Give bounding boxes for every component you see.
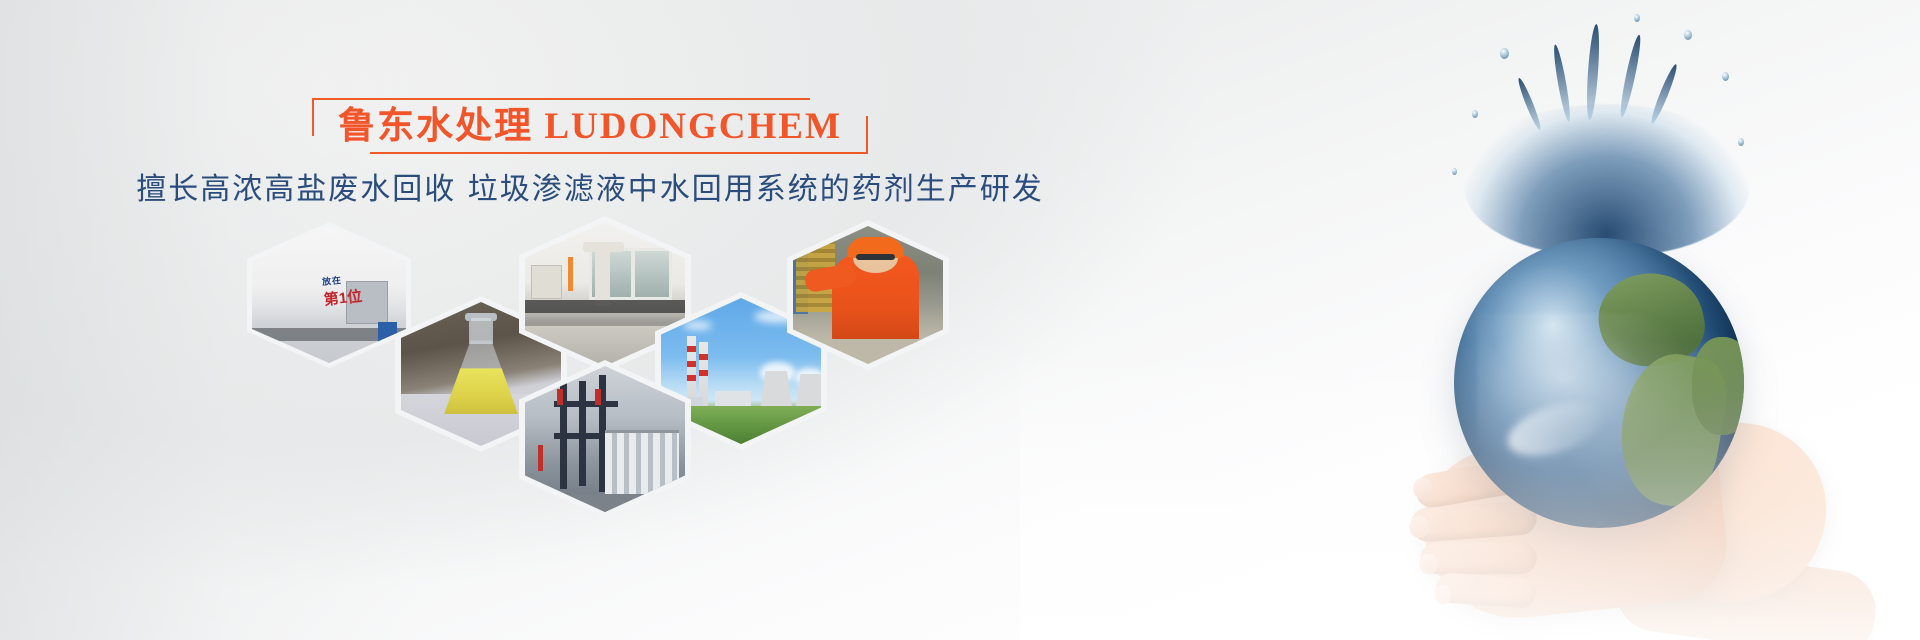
bracket-top-left-icon xyxy=(312,98,344,136)
finger-middle xyxy=(1410,500,1538,543)
glassware-rig xyxy=(595,242,609,305)
water-droplet xyxy=(1722,72,1729,81)
water-droplet xyxy=(1634,14,1640,22)
flask-liquid xyxy=(444,368,518,414)
bracket-bottom-right-icon xyxy=(836,116,868,154)
wall-slogan: 放在 第1位 xyxy=(321,271,363,310)
horizontal-pipe-1 xyxy=(554,401,618,407)
page-title: 鲁东水处理 LUDONGCHEM xyxy=(338,104,842,150)
lab-side-cabinet xyxy=(531,265,562,299)
water-droplet xyxy=(1472,110,1478,118)
erlenmeyer-flask xyxy=(444,318,518,414)
sky-cloud-2 xyxy=(683,321,712,330)
page-subtitle: 擅长高浓高盐废水回收 垃圾渗滤液中水回用系统的药剂生产研发 xyxy=(0,170,1180,210)
safety-goggles xyxy=(856,254,895,261)
water-droplet xyxy=(1452,168,1457,175)
plant-floor xyxy=(525,494,685,512)
chimney-stripe xyxy=(687,346,696,352)
cooling-tower-1 xyxy=(760,371,792,409)
chimney-stripe xyxy=(687,361,696,367)
water-globe-in-hands xyxy=(1342,0,1902,640)
chimney-stripe xyxy=(699,370,708,376)
water-swirl xyxy=(1477,313,1692,475)
window-mullion xyxy=(631,251,635,297)
water-droplet xyxy=(1684,30,1692,40)
finger-ring xyxy=(1421,542,1537,574)
water-droplet xyxy=(1500,48,1509,59)
red-pipe xyxy=(538,445,543,471)
earth-globe xyxy=(1454,238,1744,528)
black-bench-top xyxy=(525,300,685,313)
headline-block: 鲁东水处理 LUDONGCHEM 擅长高浓高盐废水回收 垃圾渗滤液中水回用系统的… xyxy=(0,98,1180,210)
title-rule-top xyxy=(326,98,810,100)
chimney-stripe xyxy=(699,354,708,360)
wall-slogan-big: 第1位 xyxy=(323,285,363,310)
chimney-stripe xyxy=(687,375,696,381)
orange-stand xyxy=(568,257,573,291)
hero-banner: 放在 第1位 xyxy=(0,0,1920,640)
hexagon-photo-gallery: 放在 第1位 xyxy=(0,0,1060,640)
red-valve-2 xyxy=(595,389,601,405)
red-valve-1 xyxy=(557,389,563,405)
splash-crown xyxy=(1464,104,1750,256)
landmass-africa xyxy=(1692,337,1744,436)
title-rule-bottom xyxy=(370,152,854,154)
title-frame: 鲁东水处理 LUDONGCHEM xyxy=(312,98,868,154)
water-droplet xyxy=(1738,138,1744,146)
